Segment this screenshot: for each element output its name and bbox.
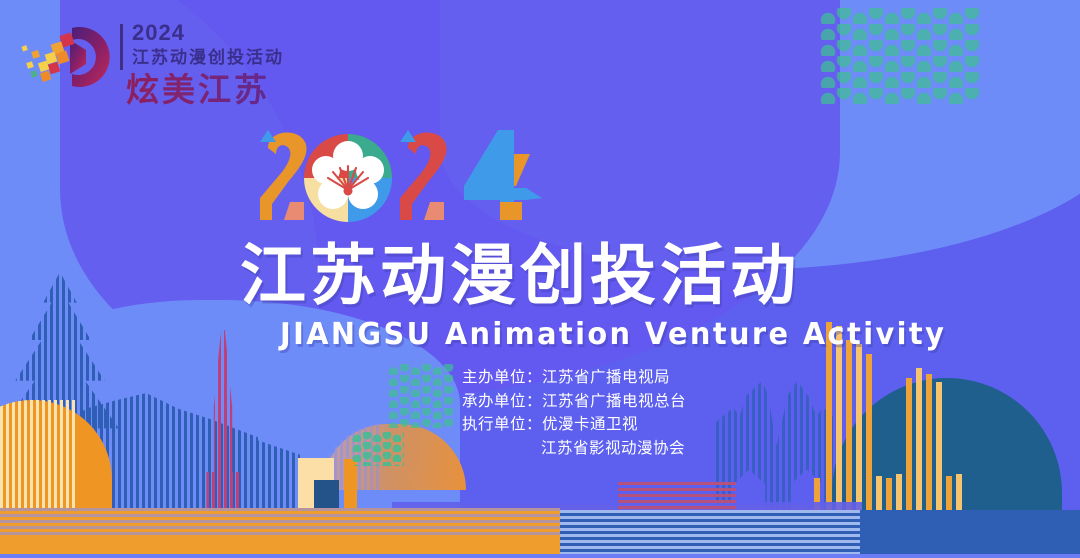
organizer-line: 主办单位：江苏省广播电视局 <box>462 366 686 390</box>
header-logo[interactable]: 2024 江苏动漫创投活动 炫美江苏 <box>18 18 284 106</box>
green-wave-pattern-icon <box>820 8 980 104</box>
page-title: 江苏动漫创投活动 <box>240 238 930 312</box>
bottom-pink-stripes <box>618 482 736 510</box>
header-logo-brand: 炫美江苏 <box>126 73 284 106</box>
abstract-orange-bar-icon <box>344 459 357 511</box>
xuanmei-jiangsu-logo-mark-icon <box>18 18 114 96</box>
organizer-line: 江苏省影视动漫协会 <box>462 437 686 461</box>
year-2024-graphic <box>258 128 558 228</box>
header-logo-subtitle: 江苏动漫创投活动 <box>132 49 284 66</box>
header-logo-divider <box>120 24 123 70</box>
bottom-edge-strip <box>0 554 1080 558</box>
green-wave-pattern-small-icon <box>352 432 404 466</box>
orange-dome-stripes-icon <box>0 400 76 518</box>
organizer-list: 主办单位：江苏省广播电视局 承办单位：江苏省广播电视总台 执行单位：优漫卡通卫视… <box>462 366 686 460</box>
header-logo-text: 2024 江苏动漫创投活动 炫美江苏 <box>120 18 284 106</box>
header-logo-year: 2024 <box>132 22 284 44</box>
ground-orange-stripes <box>0 508 560 536</box>
organizer-line: 承办单位：江苏省广播电视总台 <box>462 390 686 414</box>
organizer-line: 执行单位：优漫卡通卫视 <box>462 413 686 437</box>
page-subtitle-english: JIANGSU Animation Venture Activity <box>280 318 946 352</box>
poster-canvas: 2024 江苏动漫创投活动 炫美江苏 <box>0 0 1080 558</box>
green-wave-pattern-mid-icon <box>388 364 454 428</box>
